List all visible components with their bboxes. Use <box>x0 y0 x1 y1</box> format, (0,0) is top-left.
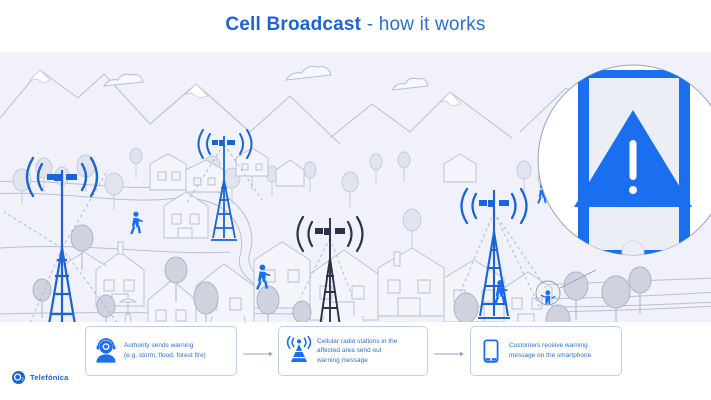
scene-illustration <box>0 52 711 322</box>
arrow-step2-to-step3 <box>434 350 464 358</box>
scene-svg <box>0 52 711 322</box>
step-card-customers-text: Customers receive warning message on the… <box>509 341 591 360</box>
page-title: Cell Broadcast - how it works <box>0 14 711 36</box>
step-card-customers[interactable]: Customers receive warning message on the… <box>470 326 622 376</box>
step-card-radio-stations-text: Cellular radio stations in the affected … <box>317 337 397 366</box>
step-card-authority[interactable]: Authority sends warning (e.g. storm, flo… <box>85 326 237 376</box>
step3-line1: Customers receive warning <box>509 341 591 351</box>
cell-tower-icon <box>286 336 312 366</box>
step2-line1: Cellular radio stations in the <box>317 337 397 347</box>
step2-line3: warning message <box>317 356 397 366</box>
step1-line2: (e.g. storm, flood, forest fire) <box>124 351 206 361</box>
page-title-strong: Cell Broadcast <box>225 14 361 35</box>
telefonica-logo: 2 Telefónica <box>12 371 69 384</box>
step2-line2: affected area send out <box>317 346 397 356</box>
telefonica-logo-text: Telefónica <box>30 373 69 382</box>
o2-logo-mark: 2 <box>12 371 25 384</box>
arrow-step1-to-step2 <box>243 350 273 358</box>
support-agent-icon <box>93 336 119 366</box>
step3-line2: message on the smartphone <box>509 351 591 361</box>
step-card-radio-stations[interactable]: Cellular radio stations in the affected … <box>278 326 428 376</box>
svg-text:2: 2 <box>21 376 24 381</box>
page-title-light: - how it works <box>361 14 485 35</box>
steps-row: Authority sends warning (e.g. storm, flo… <box>0 326 711 382</box>
infographic-root: Cell Broadcast - how it works <box>0 0 711 400</box>
smartphone-icon <box>478 336 504 366</box>
step1-line1: Authority sends warning <box>124 341 206 351</box>
step-card-authority-text: Authority sends warning (e.g. storm, flo… <box>124 341 206 360</box>
